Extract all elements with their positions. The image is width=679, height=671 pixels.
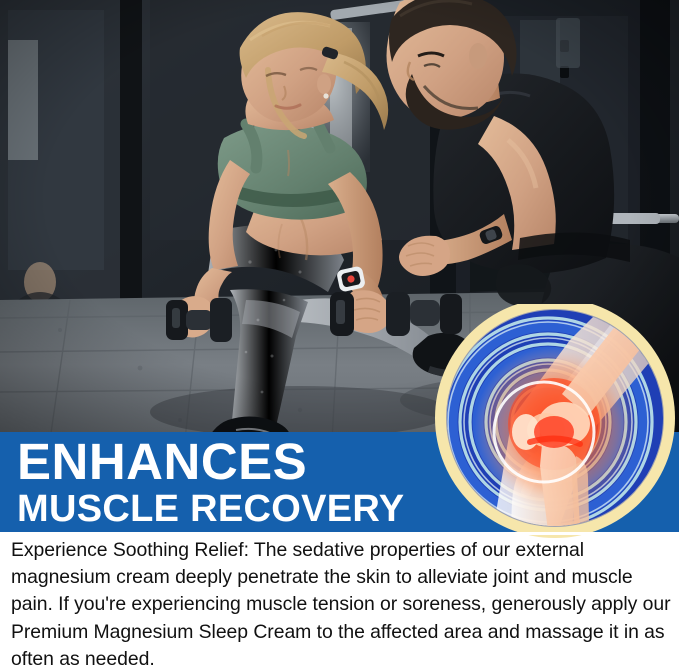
- product-feature-infographic: ENHANCES MUSCLE RECOVERY: [0, 0, 679, 671]
- knee-joint-graphic: [430, 304, 679, 554]
- banner-divider: [0, 532, 679, 535]
- knee-joint-pain-badge: [430, 304, 679, 554]
- product-description-paragraph: Experience Soothing Relief: The sedative…: [11, 537, 671, 671]
